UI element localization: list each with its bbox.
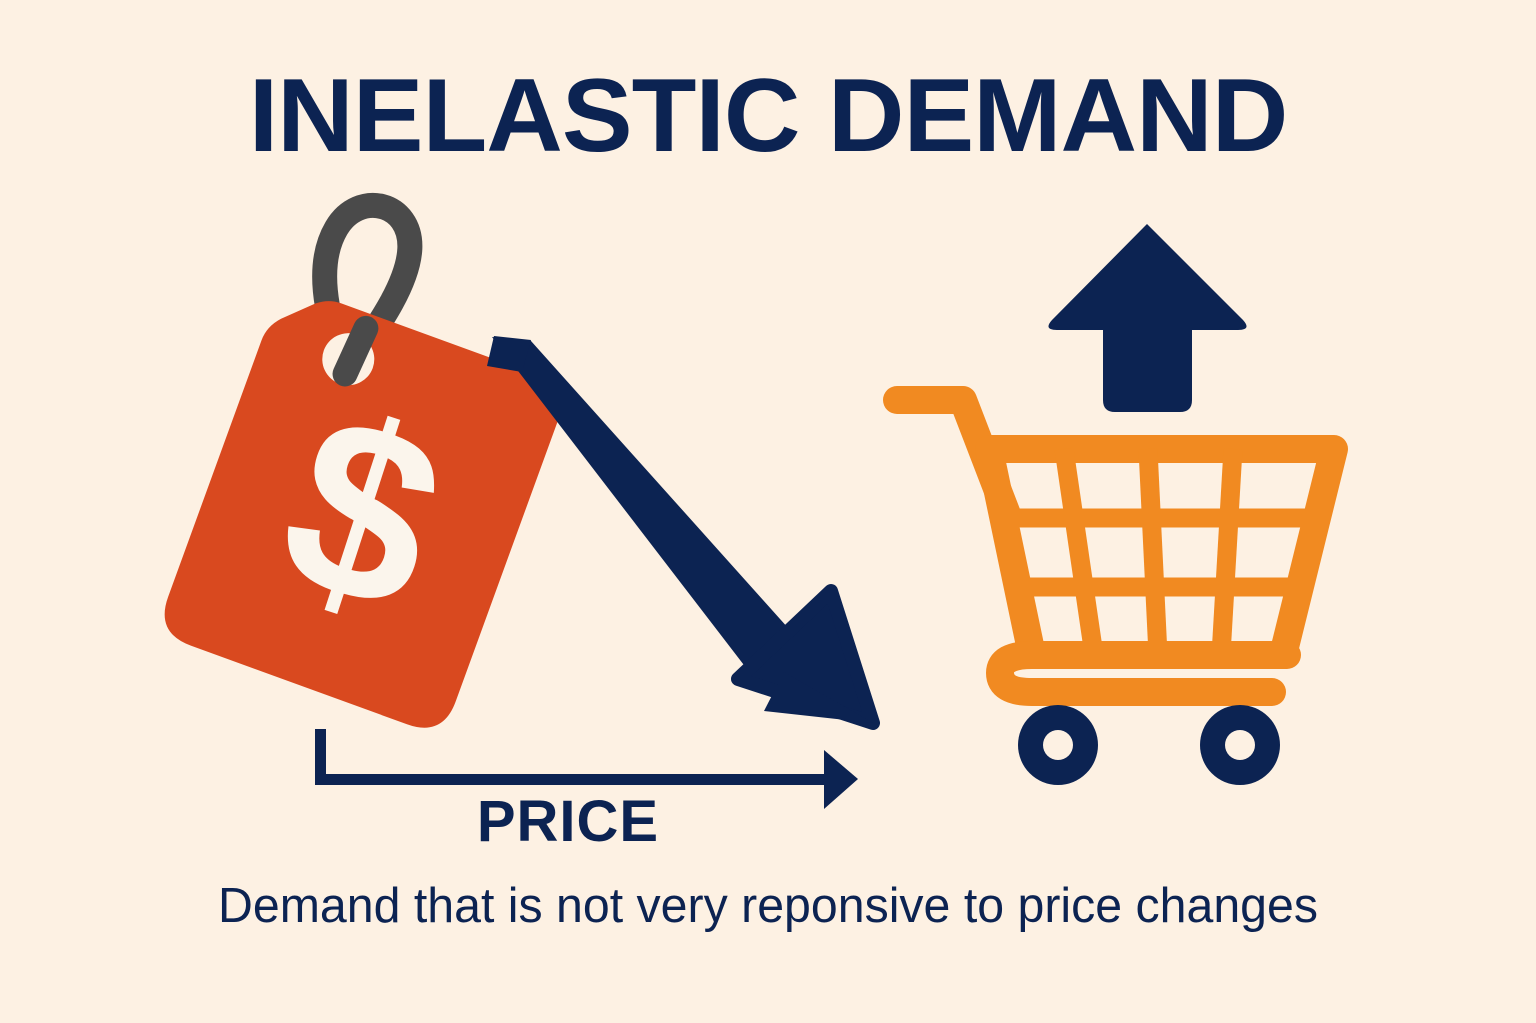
price-axis-label: PRICE — [0, 788, 1136, 855]
up-arrow-shape — [1048, 224, 1246, 412]
diagonal-down-right-arrow-icon — [487, 336, 873, 723]
wheel-hub — [1043, 730, 1073, 760]
definition-caption: Demand that is not very reponsive to pri… — [12, 878, 1525, 934]
shopping-cart-icon — [897, 400, 1334, 785]
cart-wheel-right — [1200, 705, 1280, 785]
down-arrow-shaft — [492, 337, 806, 686]
cart-grid-vline — [1148, 449, 1158, 655]
up-arrow-icon — [1048, 224, 1246, 412]
illustration-layer: $ — [0, 0, 1536, 1023]
cart-lower-rail — [1000, 655, 1287, 692]
axis-line — [315, 774, 829, 785]
cart-wheel-left — [1018, 705, 1098, 785]
infographic-canvas: INELASTIC DEMAND $ — [0, 0, 1536, 1023]
cart-grid-vline — [1064, 449, 1094, 655]
price-tag-icon: $ — [155, 183, 606, 737]
cart-grid-vline — [1221, 449, 1233, 655]
wheel-hub — [1225, 730, 1255, 760]
